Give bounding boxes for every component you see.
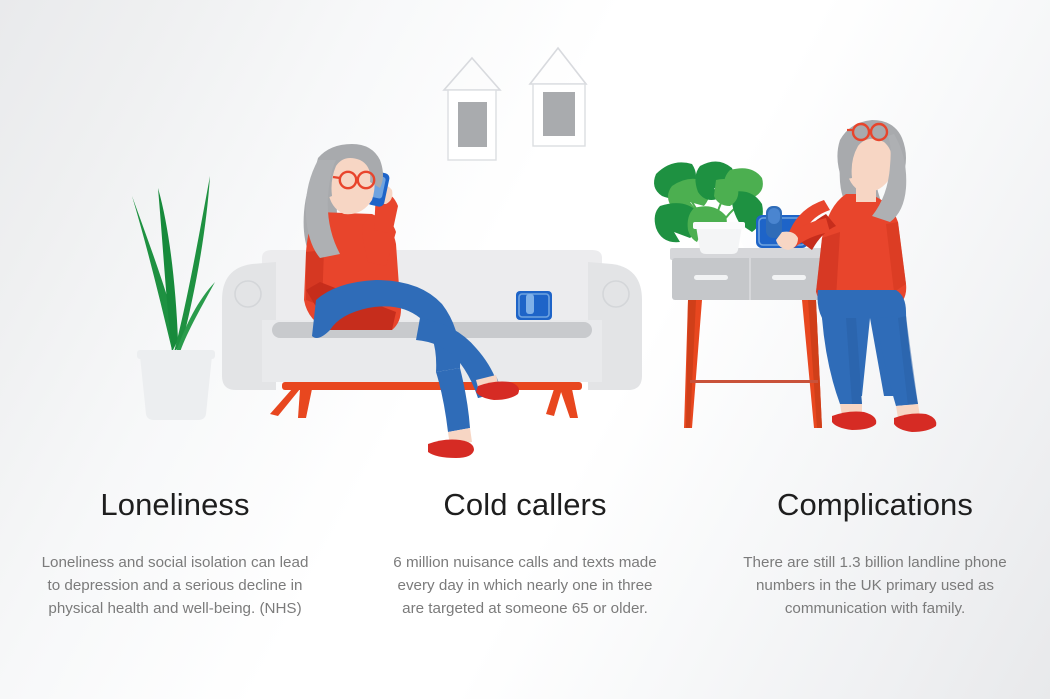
column-complications: Complications There are still 1.3 billio… — [700, 470, 1050, 620]
column-loneliness: Loneliness Loneliness and social isolati… — [0, 470, 350, 620]
drawer-handle-left-icon — [694, 275, 728, 280]
column-body-complications: There are still 1.3 billion landline pho… — [739, 551, 1011, 620]
blue-book-icon — [516, 291, 552, 320]
wall-picture-frame-left-icon — [444, 58, 500, 160]
column-heading-cold-callers: Cold callers — [376, 488, 674, 522]
column-body-loneliness: Loneliness and social isolation can lead… — [37, 551, 313, 620]
drawer-handle-right-icon — [772, 275, 806, 280]
column-cold-callers: Cold callers 6 million nuisance calls an… — [350, 470, 700, 620]
wall-picture-frame-right-icon — [530, 48, 586, 146]
monstera-plant-icon — [654, 161, 763, 254]
captions-row: Loneliness Loneliness and social isolati… — [0, 470, 1050, 699]
illustration-scene — [0, 0, 1050, 470]
potted-grass-plant-icon — [132, 176, 215, 420]
column-heading-complications: Complications — [726, 488, 1024, 522]
column-body-cold-callers: 6 million nuisance calls and texts made … — [391, 551, 659, 620]
column-heading-loneliness: Loneliness — [26, 488, 324, 522]
infographic-poster: Loneliness Loneliness and social isolati… — [0, 0, 1050, 699]
console-table-icon — [670, 248, 830, 428]
